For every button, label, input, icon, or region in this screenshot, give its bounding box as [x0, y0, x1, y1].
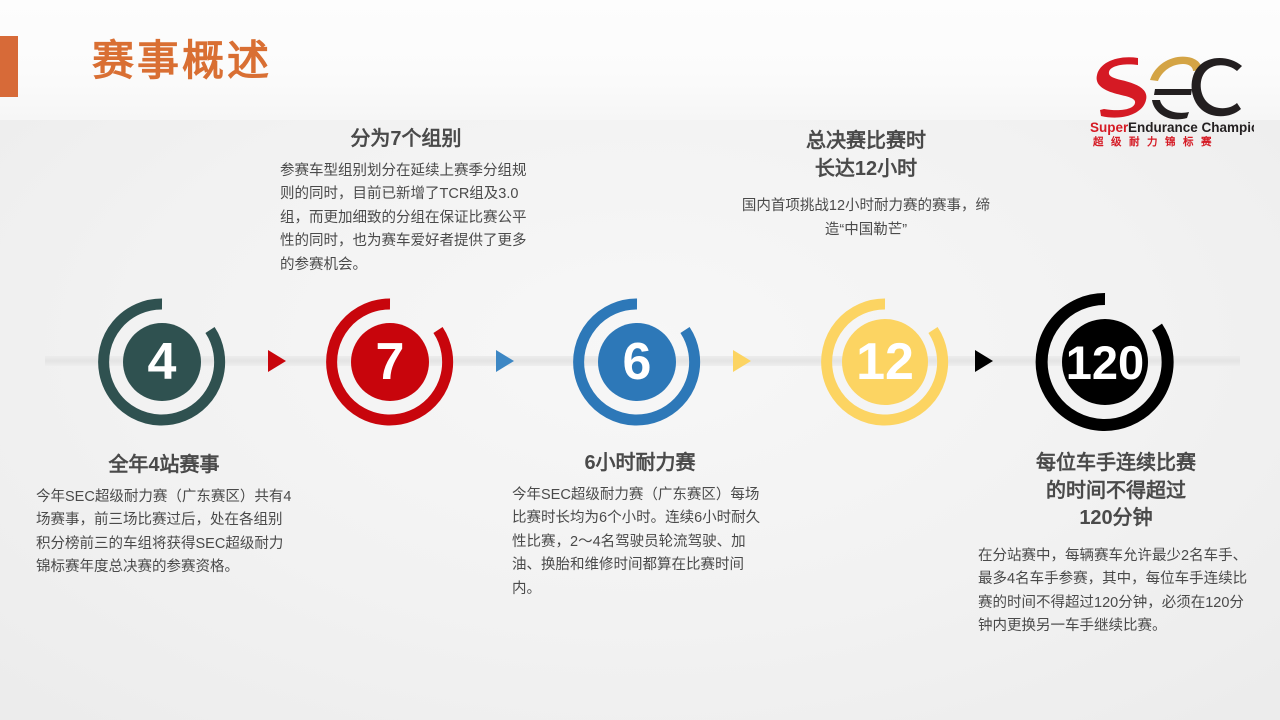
node-heading-120-line1: 每位车手连续比赛: [1036, 452, 1196, 474]
svg-text:Super: Super: [1090, 120, 1129, 135]
timeline-node-4[interactable]: 4: [97, 297, 227, 427]
page-title: 赛事概述: [92, 37, 272, 85]
logo-tagline-en: Super Endurance Championship: [1090, 120, 1254, 135]
logo-tagline-cn: 超级耐力锦标赛: [1092, 135, 1219, 148]
node-body-12: 国内首项挑战12小时耐力赛的赛事，缔造“中国勒芒”: [732, 195, 1000, 242]
node-text-7: 分为7个组别 参赛车型组别划分在延续上赛季分组规则的同时，目前已新增了TCR组及…: [280, 126, 532, 277]
timeline-arrow-2: [496, 350, 514, 372]
timeline-node-12[interactable]: 12: [820, 297, 950, 427]
timeline-arrow-4: [975, 350, 993, 372]
node-heading-12-line1: 总决赛比赛时: [806, 130, 926, 152]
node-heading-120-line3: 120分钟: [1079, 507, 1152, 529]
node-text-120: 每位车手连续比赛 的时间不得超过 120分钟 在分站赛中，每辆赛车允许最少2名车…: [978, 450, 1254, 639]
node-heading-120-line2: 的时间不得超过: [1046, 480, 1186, 502]
svg-text:Endurance Championship: Endurance Championship: [1128, 120, 1254, 135]
title-accent-bar: [0, 36, 18, 97]
node-heading-120: 每位车手连续比赛 的时间不得超过 120分钟: [978, 450, 1254, 533]
node-heading-7: 分为7个组别: [280, 126, 532, 154]
timeline-node-120[interactable]: 120: [1035, 292, 1175, 432]
timeline-arrow-3: [733, 350, 751, 372]
node-heading-12: 总决赛比赛时 长达12小时: [732, 128, 1000, 183]
slide-canvas: 赛事概述 Super Endurance Championship: [0, 0, 1280, 720]
node-heading-4: 全年4站赛事: [36, 452, 292, 480]
node-body-4: 今年SEC超级耐力赛（广东赛区）共有4场赛事，前三场比赛过后，处在各组别积分榜前…: [36, 486, 292, 580]
sec-logo: Super Endurance Championship 超级耐力锦标赛: [1088, 44, 1254, 148]
node-text-12: 总决赛比赛时 长达12小时 国内首项挑战12小时耐力赛的赛事，缔造“中国勒芒”: [732, 128, 1000, 242]
timeline-arrow-1: [268, 350, 286, 372]
node-body-120: 在分站赛中，每辆赛车允许最少2名车手、最多4名车手参赛，其中，每位车手连续比赛的…: [978, 545, 1254, 639]
node-text-6: 6小时耐力赛 今年SEC超级耐力赛（广东赛区）每场比赛时长均为6个小时。连续6小…: [512, 450, 768, 601]
logo-letter-c: [1192, 58, 1242, 116]
node-text-4: 全年4站赛事 今年SEC超级耐力赛（广东赛区）共有4场赛事，前三场比赛过后，处在…: [36, 452, 292, 580]
logo-letter-s: [1097, 57, 1147, 117]
svg-text:超级耐力锦标赛: 超级耐力锦标赛: [1092, 135, 1219, 148]
node-heading-12-line2: 长达12小时: [815, 158, 917, 180]
node-heading-6: 6小时耐力赛: [512, 450, 768, 478]
timeline-node-6[interactable]: 6: [572, 297, 702, 427]
node-body-6: 今年SEC超级耐力赛（广东赛区）每场比赛时长均为6个小时。连续6小时耐久性比赛，…: [512, 484, 768, 601]
timeline-node-7[interactable]: 7: [325, 297, 455, 427]
node-body-7: 参赛车型组别划分在延续上赛季分组规则的同时，目前已新增了TCR组及3.0组，而更…: [280, 160, 532, 277]
